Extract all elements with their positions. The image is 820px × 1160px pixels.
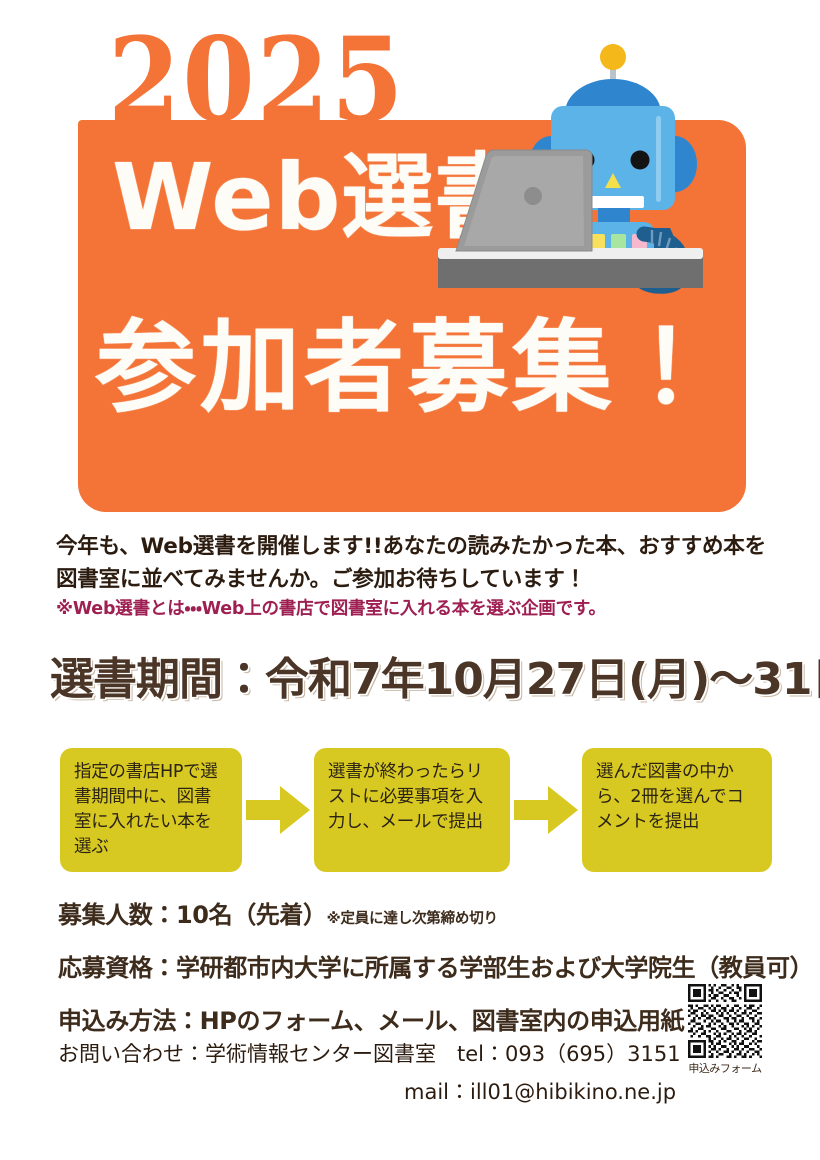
robot-button-green-icon: [611, 234, 626, 249]
contact-tel-line: お問い合わせ：学術情報センター図書室 tel：093（695）3151: [58, 1038, 778, 1068]
arrow-right-icon: [514, 784, 578, 836]
lead-paragraph: 今年も、Web選書を開催します!!あなたの読みたかった本、おすすめ本を図書室に並…: [56, 531, 780, 596]
info-eligibility: 応募資格：学研都市内大学に所属する学部生および大学院生（教員可）: [58, 948, 778, 983]
robot-mouth-icon: [584, 196, 644, 208]
antenna-ball-icon: [600, 44, 626, 70]
flow-arrow-2: [510, 748, 582, 872]
qr-code-icon[interactable]: [688, 984, 762, 1058]
info-capacity: 募集人数：10名（先着）※定員に達し次第締め切り: [58, 895, 778, 930]
robot-laptop-svg: [438, 38, 748, 298]
contact-mail-line: mail：ill01@hibikino.ne.jp: [58, 1076, 778, 1106]
laptop-logo-icon: [524, 187, 542, 205]
robot-neck: [598, 208, 630, 222]
robot-eye-right-icon: [631, 151, 650, 170]
flow-step-3: 選んだ図書の中から、2冊を選んでコメントを提出: [582, 748, 772, 872]
application-form-qr[interactable]: 申込みフォーム: [675, 984, 775, 1076]
info-apply-method: 申込み方法：HPのフォーム、メール、図書室内の申込用紙: [58, 1001, 778, 1036]
arrow-right-icon: [246, 784, 310, 836]
hero-title-line2: 参加者募集！: [96, 318, 720, 418]
flow-step-2: 選書が終わったらリストに必要事項を入力し、メールで提出: [314, 748, 510, 872]
contact-block: お問い合わせ：学術情報センター図書室 tel：093（695）3151 mail…: [58, 1038, 778, 1106]
flow-step-1: 指定の書店HPで選書期間中に、図書室に入れたい本を選ぶ: [60, 748, 242, 872]
info-capacity-main: 募集人数：10名（先着）: [58, 901, 327, 929]
desk-body: [438, 254, 703, 288]
poster-year: 2025: [108, 22, 405, 138]
robot-at-laptop-illustration: [438, 38, 748, 298]
definition-note: ※Web選書とは・・・Web上の書店で図書室に入れる本を選ぶ企画です。: [56, 595, 606, 620]
qr-caption: 申込みフォーム: [675, 1060, 775, 1076]
robot-head-highlight: [656, 116, 661, 202]
flow-steps: 指定の書店HPで選書期間中に、図書室に入れたい本を選ぶ 選書が終わったらリストに…: [60, 748, 772, 872]
poster-root: 2025 Web選書 参加者募集！: [0, 0, 820, 1160]
application-info: 募集人数：10名（先着）※定員に達し次第締め切り 応募資格：学研都市内大学に所属…: [58, 895, 778, 1054]
selection-period-banner: 選書期間：令和7年10月27日(月)〜31日(金): [50, 643, 820, 707]
info-capacity-note: ※定員に達し次第締め切り: [327, 911, 498, 927]
flow-arrow-1: [242, 748, 314, 872]
